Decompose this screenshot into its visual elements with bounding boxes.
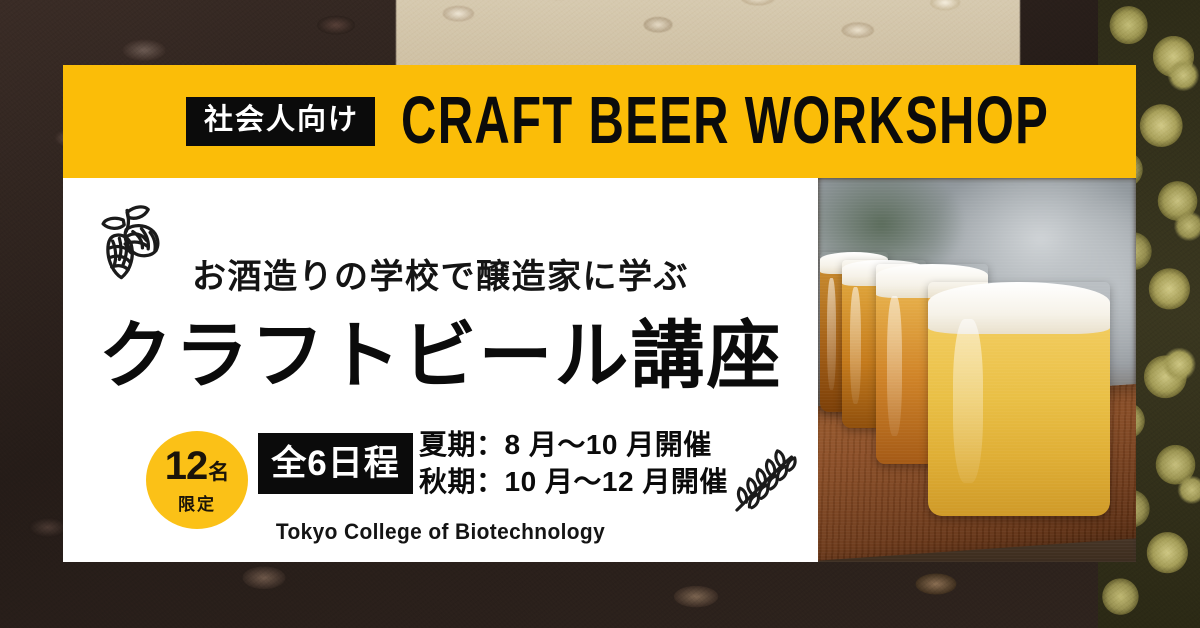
audience-badge: 社会人向け: [186, 97, 375, 146]
header-title: CRAFT BEER WORKSHOP: [401, 88, 1049, 155]
poster-card: 社会人向け CRAFT BEER WORKSHOP: [63, 65, 1136, 562]
seats-limit-label: 限定: [178, 490, 216, 515]
beer-flight-photo: [818, 178, 1136, 562]
seats-limit-badge: 12 名 限定: [146, 431, 248, 529]
info-row: 12 名 限定 全6日程 夏期：8 月〜10 月開催 秋期：10 月〜12 月開…: [63, 429, 818, 519]
card-body: お酒造りの学校で醸造家に学ぶ クラフトビール講座 12 名 限定 全6日程 夏期…: [63, 178, 1136, 562]
schedule-line-autumn: 秋期：10 月〜12 月開催: [419, 464, 728, 501]
card-left-column: お酒造りの学校で醸造家に学ぶ クラフトビール講座 12 名 限定 全6日程 夏期…: [63, 178, 818, 562]
school-name: Tokyo College of Biotechnology: [82, 519, 799, 545]
main-title: クラフトビール講座: [63, 313, 818, 399]
seats-top-line: 12 名: [165, 446, 230, 486]
sessions-badge: 全6日程: [258, 433, 413, 494]
wheat-stalk-icon: [726, 443, 804, 521]
poster-canvas: 社会人向け CRAFT BEER WORKSHOP: [0, 0, 1200, 628]
schedule-line-summer: 夏期：8 月〜10 月開催: [419, 427, 728, 464]
seats-unit: 名: [208, 462, 229, 483]
photo-grain-overlay: [818, 178, 1136, 562]
schedule-list: 夏期：8 月〜10 月開催 秋期：10 月〜12 月開催: [419, 427, 728, 501]
seats-number: 12: [165, 446, 208, 486]
header-bar: 社会人向け CRAFT BEER WORKSHOP: [63, 65, 1136, 178]
subtitle: お酒造りの学校で醸造家に学ぶ: [63, 260, 818, 294]
